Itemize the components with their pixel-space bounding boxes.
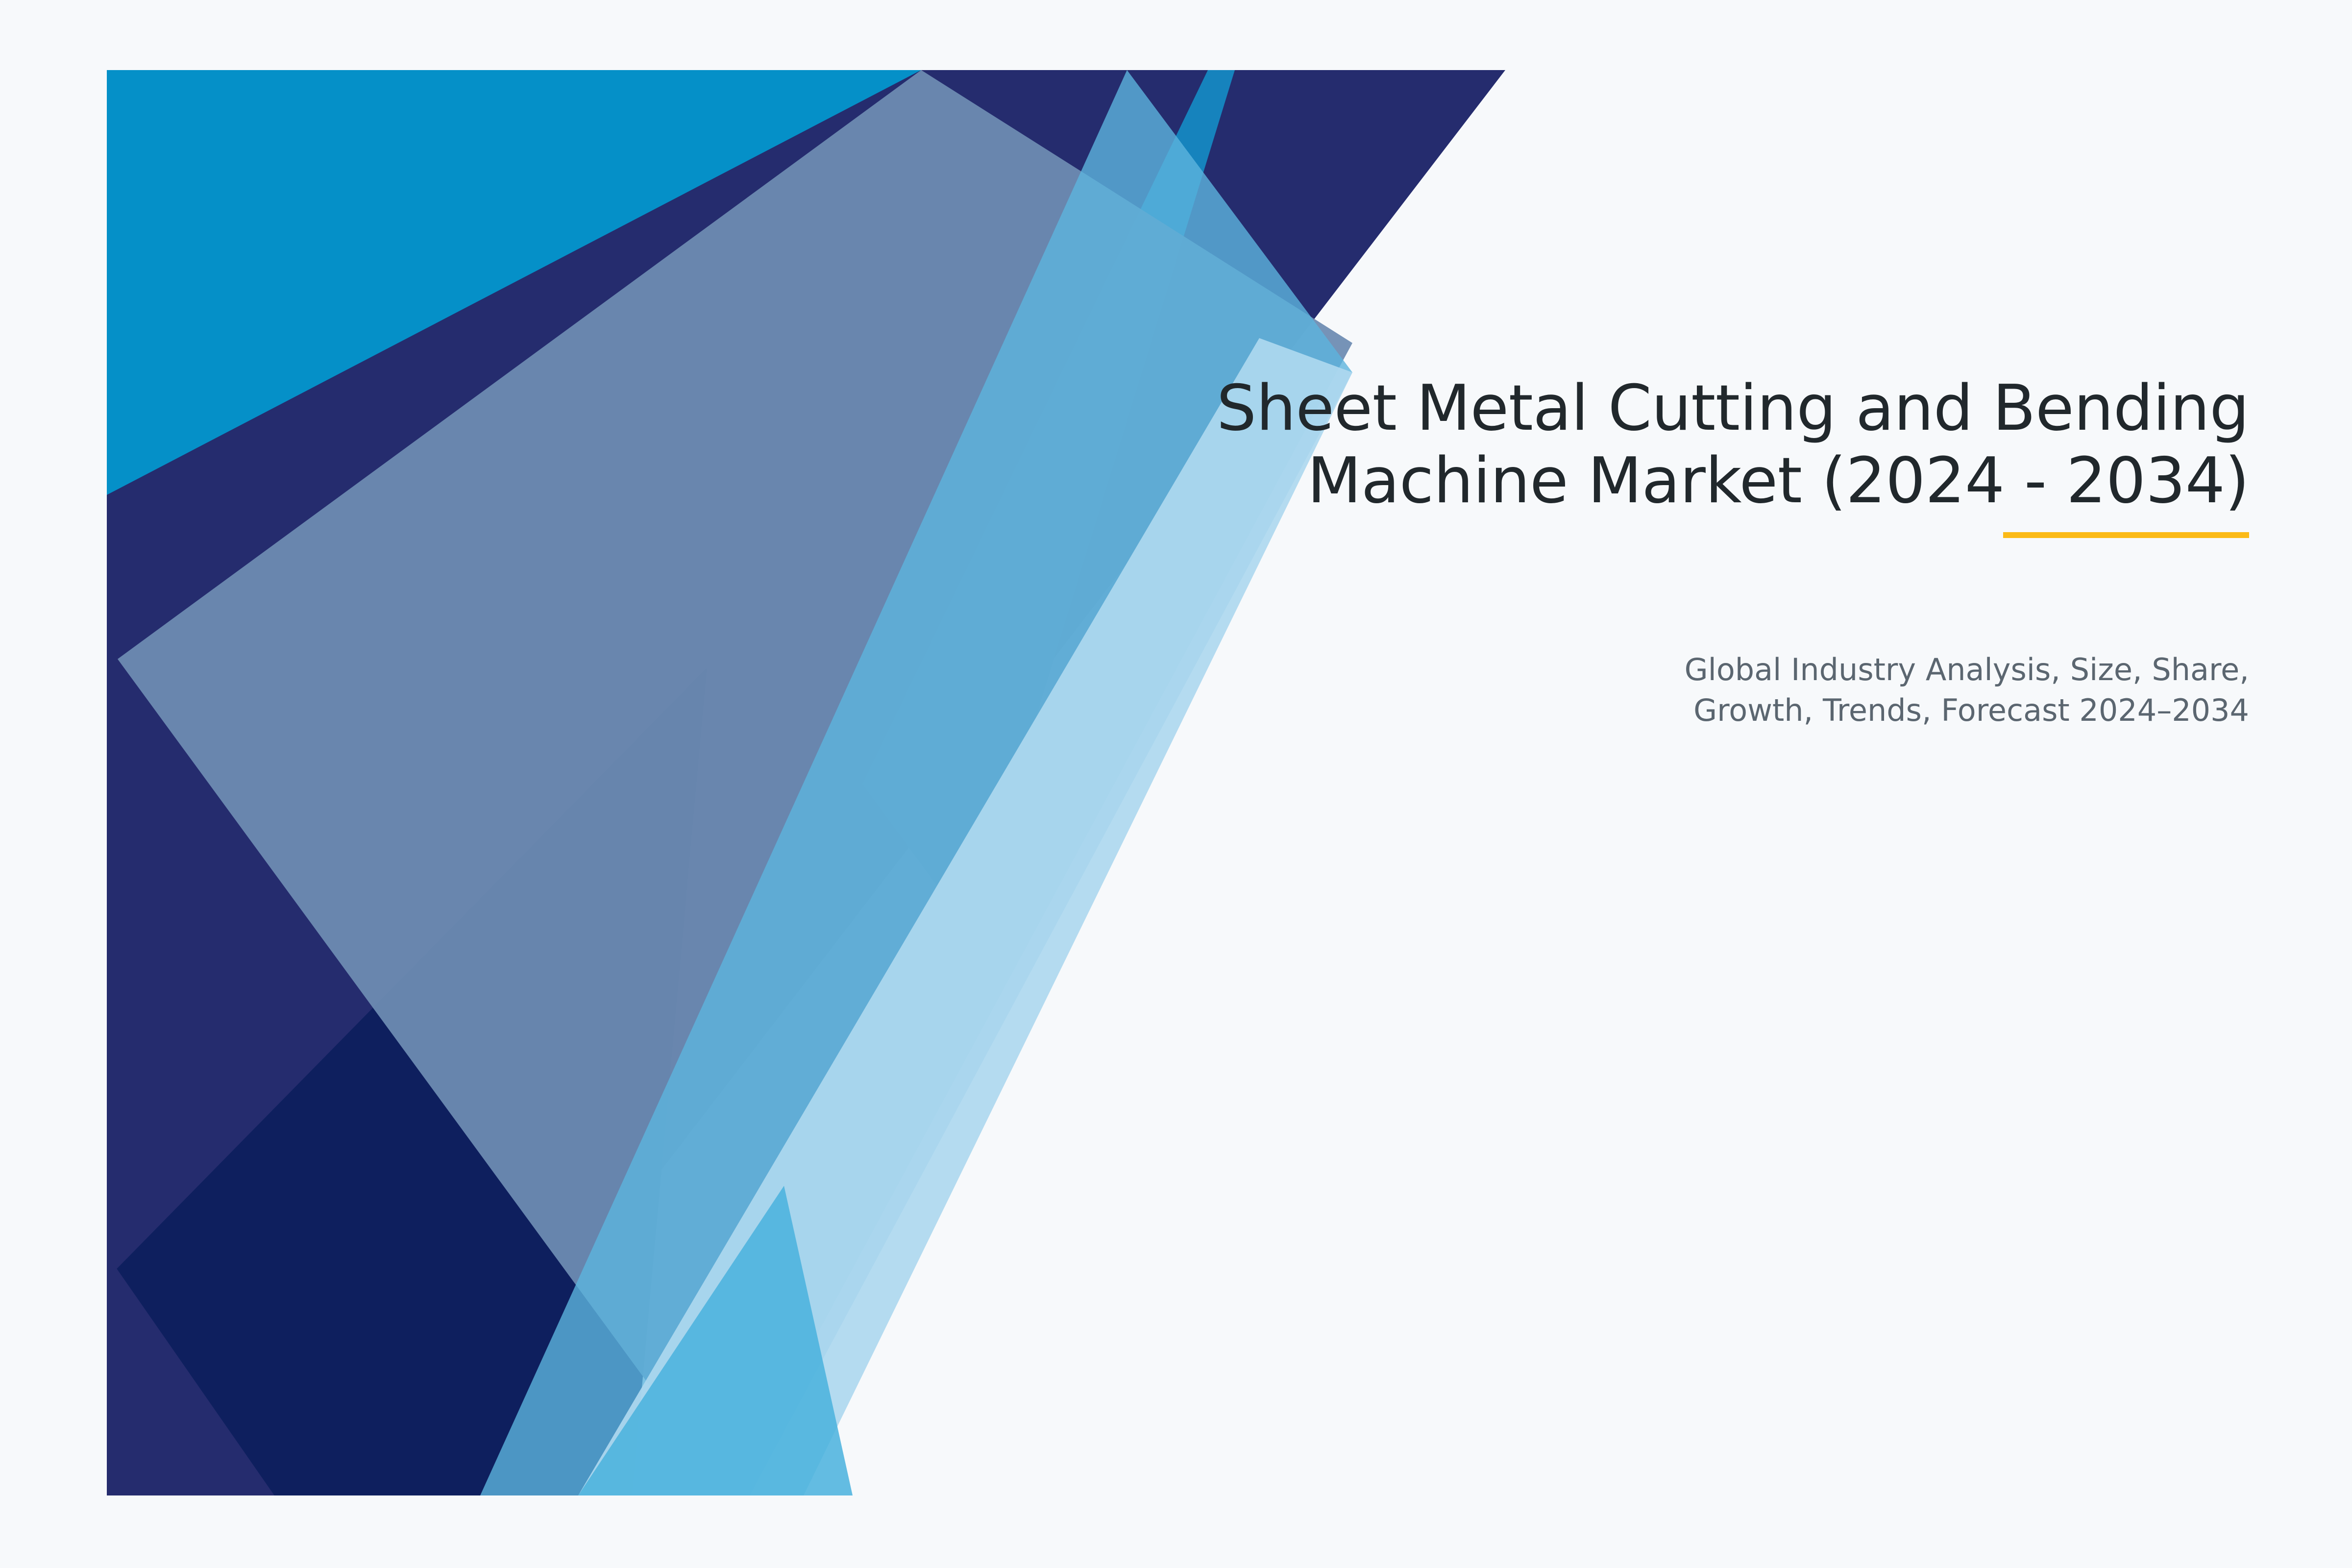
title-block: Sheet Metal Cutting and Bending Machine … [931, 372, 2249, 518]
artwork-layers [107, 70, 1505, 1495]
shape-sky-ribbon [480, 70, 1352, 1495]
shape-slate-quad [118, 70, 1352, 1495]
shape-light-sky-wedge [578, 1186, 853, 1495]
title-accent-underline [2003, 532, 2249, 538]
shape-navy-edge-sliver [107, 1254, 274, 1495]
artwork-svg [0, 0, 2352, 1568]
report-cover-page: Sheet Metal Cutting and Bending Machine … [0, 0, 2352, 1568]
shape-cyan-base [107, 70, 1505, 1495]
shape-cyan-corner [107, 70, 921, 495]
page-subtitle: Global Industry Analysis, Size, Share, G… [1421, 649, 2249, 731]
shape-deep-navy-peak [107, 667, 707, 1495]
page-title: Sheet Metal Cutting and Bending Machine … [931, 372, 2249, 518]
shape-navy-main [107, 70, 1505, 1495]
abstract-geometric-artwork [0, 0, 2352, 1568]
